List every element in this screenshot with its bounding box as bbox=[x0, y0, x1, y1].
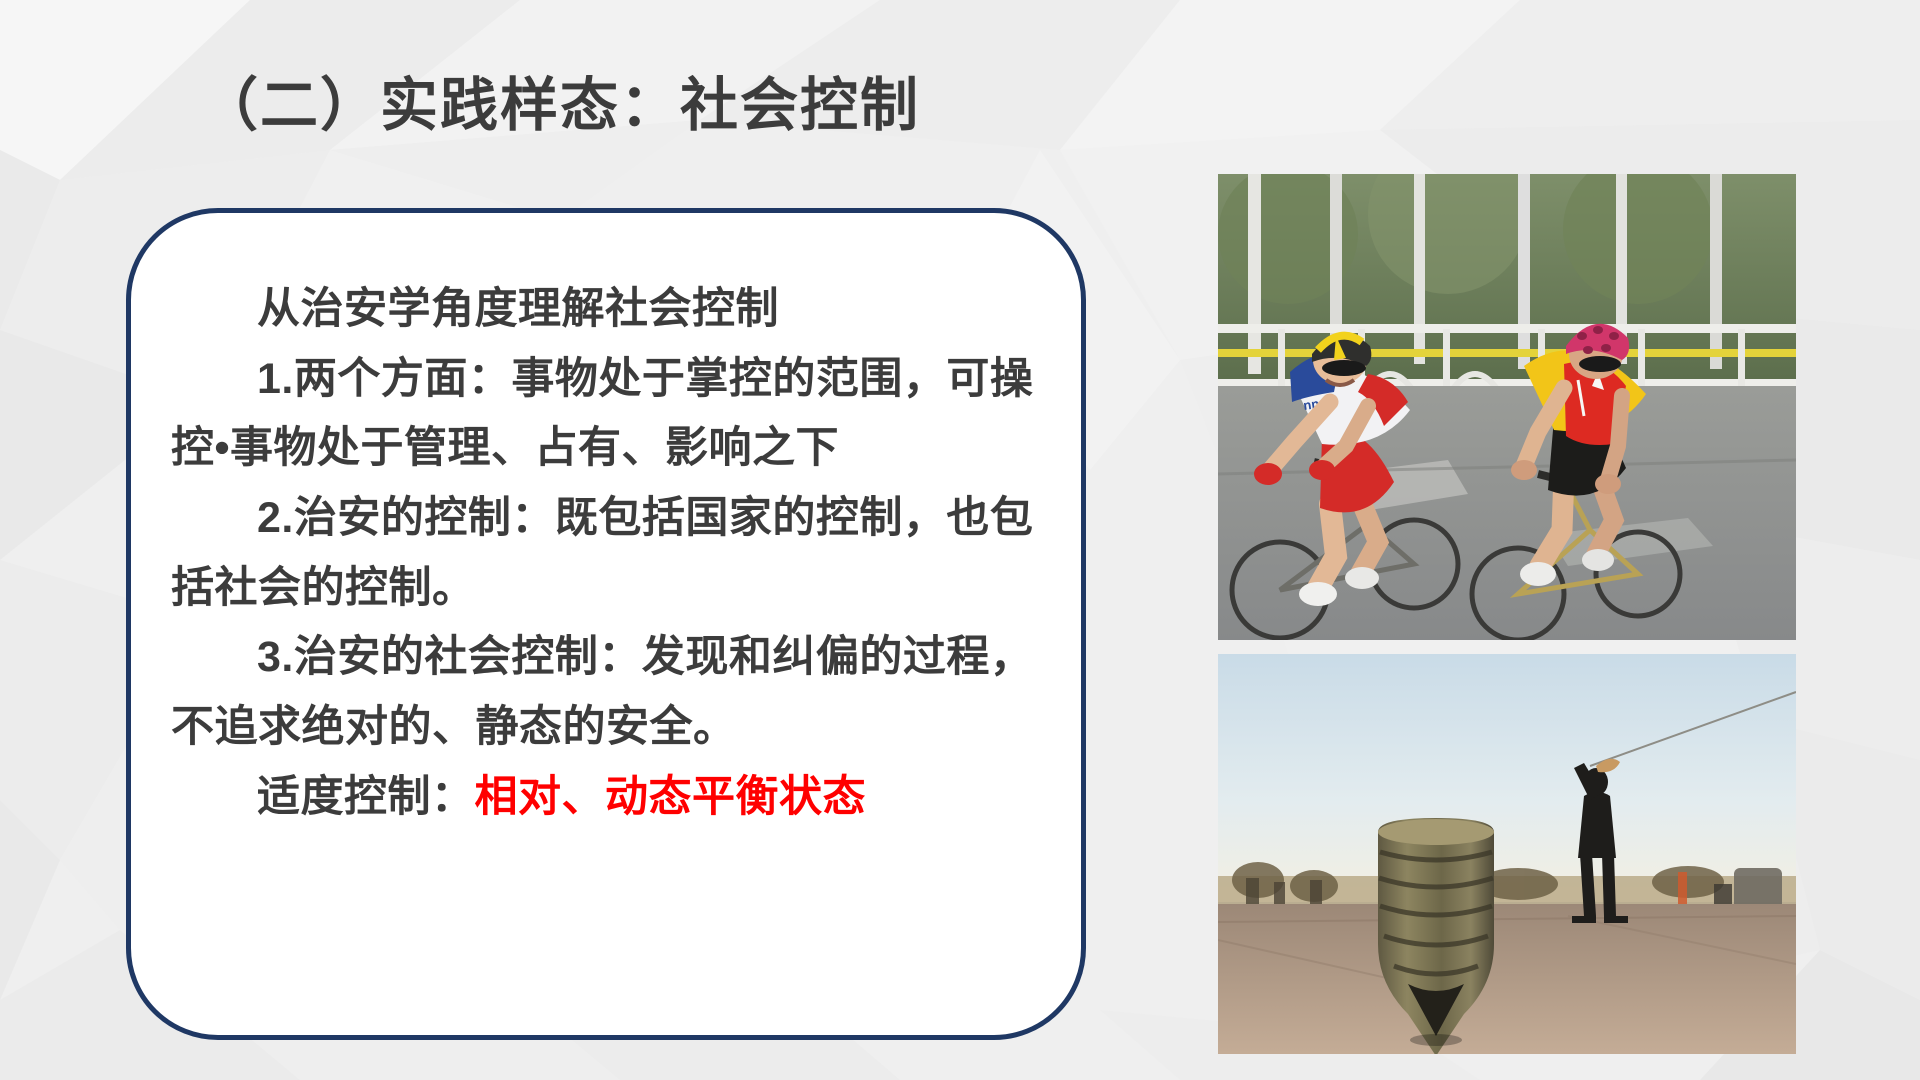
spinning-top-photo bbox=[1218, 654, 1796, 1054]
paragraph-point-2: 2.治安的控制：既包括国家的控制，也包括社会的控制。 bbox=[171, 484, 1045, 623]
paragraph-intro: 从治安学角度理解社会控制 bbox=[171, 275, 1045, 345]
content-body: 从治安学角度理解社会控制 1.两个方面：事物处于掌控的范围，可操控•事物处于管理… bbox=[171, 275, 1045, 832]
paragraph-point-3: 3.治安的社会控制：发现和纠偏的过程，不追求绝对的、静态的安全。 bbox=[171, 623, 1045, 762]
content-card: 从治安学角度理解社会控制 1.两个方面：事物处于掌控的范围，可操控•事物处于管理… bbox=[126, 208, 1086, 1040]
cyclists-photo-graphic: nnd bbox=[1218, 174, 1796, 640]
paragraph-point-1: 1.两个方面：事物处于掌控的范围，可操控•事物处于管理、占有、影响之下 bbox=[171, 345, 1045, 484]
paragraph-conclusion: 适度控制：相对、动态平衡状态 bbox=[171, 763, 1045, 833]
page-title: （二）实践样态：社会控制 bbox=[0, 58, 1120, 142]
slide: （二）实践样态：社会控制 从治安学角度理解社会控制 1.两个方面：事物处于掌控的… bbox=[0, 0, 1920, 1080]
conclusion-label: 适度控制： bbox=[257, 773, 475, 821]
spinning-top-photo-graphic bbox=[1218, 654, 1796, 1054]
cyclists-photo: nnd bbox=[1218, 174, 1796, 640]
conclusion-emphasis: 相对、动态平衡状态 bbox=[475, 773, 867, 821]
